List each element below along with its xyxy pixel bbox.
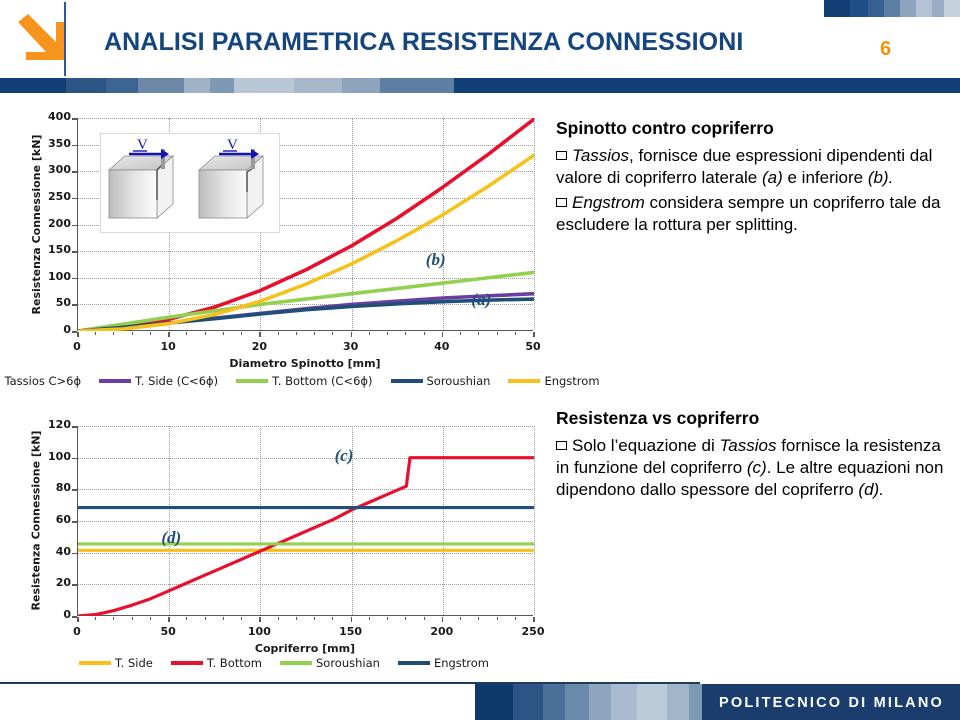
checkbox-bullet-icon <box>556 151 567 160</box>
series-annotation-b: (b) <box>426 250 446 270</box>
x-minor-tickmark <box>497 617 498 620</box>
legend-item[interactable]: Engstrom <box>508 374 599 388</box>
x-minor-tickmark <box>478 332 479 335</box>
y-tickmark <box>72 584 77 586</box>
y-tickmark <box>72 426 77 428</box>
x-minor-tickmark <box>533 617 534 620</box>
page-title: ANALISI PARAMETRICA RESISTENZA CONNESSIO… <box>104 28 794 57</box>
footer-swatch-cell <box>565 684 589 720</box>
x-minor-tickmark <box>278 332 279 335</box>
series-annotation-d: (d) <box>161 528 181 548</box>
footer-swatch-cell <box>637 684 667 720</box>
legend-label: Tassios C>6ϕ <box>4 374 81 388</box>
legend-label: Engstrom <box>434 656 489 670</box>
y-tickmark <box>72 489 77 491</box>
text-run: Tassios <box>719 436 776 455</box>
header-swatch-cell <box>884 0 900 17</box>
header-bar-cell <box>342 78 380 93</box>
legend-label: T. Side (C<6ϕ) <box>135 374 218 388</box>
text-heading: Spinotto contro copriferro <box>556 118 956 140</box>
footer-swatch-strip <box>475 684 735 720</box>
plot-area <box>77 426 533 616</box>
x-minor-tickmark <box>223 332 224 335</box>
text-block-spinotto: Spinotto contro copriferroTassios, forni… <box>556 118 956 239</box>
x-minor-tickmark <box>95 332 96 335</box>
brand-name: POLITECNICO DI MILANO <box>719 695 944 711</box>
checkbox-bullet-icon <box>556 198 567 207</box>
legend-color-swatch <box>236 379 268 383</box>
page-number: 6 <box>880 38 920 61</box>
text-heading: Resistenza vs copriferro <box>556 408 956 430</box>
y-tickmark <box>72 553 77 555</box>
dowel-diagram-svg: VV <box>101 134 281 234</box>
series-annotation-c: (c) <box>335 446 354 466</box>
chart1-plot-wrapper: 05010015020025030035040001020304050(b)(a… <box>6 108 562 400</box>
y-axis-title: Resistenza Connessione [kN] <box>30 426 43 616</box>
legend-item[interactable]: T. Side (C<6ϕ) <box>99 374 218 388</box>
header-swatch-cell <box>932 0 944 17</box>
x-tick-label: 50 <box>508 340 558 353</box>
x-minor-tickmark <box>150 617 151 620</box>
text-run: (a) <box>762 168 783 187</box>
text-run: (b). <box>868 168 894 187</box>
header-bar-cell <box>184 78 210 93</box>
legend-color-swatch <box>391 379 423 383</box>
text-paragraph: Solo l’equazione di Tassios fornisce la … <box>556 435 956 501</box>
x-minor-tickmark <box>278 617 279 620</box>
concrete-block: V <box>199 137 263 218</box>
header-swatch-cell <box>944 0 960 17</box>
chart-diametro-spinotto: 05010015020025030035040001020304050(b)(a… <box>6 108 562 400</box>
dowel-diagram-inset: VV <box>100 133 280 233</box>
x-minor-tickmark <box>296 332 297 335</box>
text-run: Tassios <box>572 146 629 165</box>
y-tickmark <box>72 171 77 173</box>
x-minor-tickmark <box>314 617 315 620</box>
legend-label: T. Side <box>115 656 153 670</box>
x-tick-label: 20 <box>234 340 284 353</box>
text-run: (d). <box>858 480 884 499</box>
legend-color-swatch <box>398 661 430 665</box>
x-minor-tickmark <box>205 617 206 620</box>
header-bar-cell <box>454 78 960 93</box>
legend-color-swatch <box>280 661 312 665</box>
header-accent-bar <box>0 78 960 93</box>
y-tickmark <box>72 278 77 280</box>
x-minor-tickmark <box>515 332 516 335</box>
x-minor-tickmark <box>186 617 187 620</box>
legend-color-swatch <box>99 379 131 383</box>
footer-swatch-cell <box>543 684 565 720</box>
gridline-vertical <box>534 118 535 330</box>
legend-item[interactable]: Tassios C>6ϕ <box>0 374 81 388</box>
footer-swatch-cell <box>475 684 513 720</box>
legend-item[interactable]: Engstrom <box>398 656 489 670</box>
x-minor-tickmark <box>77 332 78 335</box>
x-minor-tickmark <box>77 617 78 620</box>
x-minor-tickmark <box>168 617 169 620</box>
legend-item[interactable]: T. Side <box>79 656 153 670</box>
header-bar-cell <box>234 78 294 93</box>
header-bar-cell <box>294 78 342 93</box>
chart1-legend: Tassios C>6ϕT. Side (C<6ϕ)T. Bottom (C<6… <box>6 370 562 392</box>
legend-item[interactable]: Soroushian <box>391 374 491 388</box>
text-run: Engstrom <box>572 193 645 212</box>
x-minor-tickmark <box>442 332 443 335</box>
legend-item[interactable]: Soroushian <box>280 656 380 670</box>
x-minor-tickmark <box>460 617 461 620</box>
legend-label: Soroushian <box>427 374 491 388</box>
legend-color-swatch <box>508 379 540 383</box>
header-bar-cell <box>66 78 106 93</box>
header-swatch-cell <box>824 0 850 17</box>
arrow-down-right-icon <box>12 12 64 68</box>
series-annotation-a: (a) <box>471 290 491 310</box>
x-minor-tickmark <box>95 617 96 620</box>
x-tick-label: 0 <box>52 625 102 638</box>
x-minor-tickmark <box>387 332 388 335</box>
footer-swatch-cell <box>589 684 611 720</box>
header-bar-cell <box>0 78 66 93</box>
y-tickmark <box>72 251 77 253</box>
header-swatch-strip <box>824 0 960 17</box>
x-minor-tickmark <box>113 332 114 335</box>
x-axis-title: Diametro Spinotto [mm] <box>77 357 533 370</box>
x-minor-tickmark <box>497 332 498 335</box>
header-divider <box>64 2 66 76</box>
x-minor-tickmark <box>259 332 260 335</box>
text-run: (c) <box>747 458 767 477</box>
y-tickmark <box>72 304 77 306</box>
header-swatch-cell <box>900 0 916 17</box>
x-minor-tickmark <box>424 617 425 620</box>
x-tick-label: 0 <box>52 340 102 353</box>
text-paragraph: Engstrom considera sempre un copriferro … <box>556 192 956 236</box>
header-bar-cell <box>210 78 234 93</box>
x-minor-tickmark <box>351 617 352 620</box>
x-minor-tickmark <box>314 332 315 335</box>
x-tick-label: 30 <box>326 340 376 353</box>
legend-item[interactable]: T. Bottom (C<6ϕ) <box>236 374 372 388</box>
chart-copriferro: 020406080100120050100150200250(c)(d)Copr… <box>6 404 562 682</box>
x-minor-tickmark <box>405 617 406 620</box>
y-tickmark <box>72 198 77 200</box>
footer-swatch-cell <box>611 684 637 720</box>
y-tickmark <box>72 521 77 523</box>
legend-color-swatch <box>171 661 203 665</box>
x-minor-tickmark <box>405 332 406 335</box>
header-swatch-cell <box>916 0 932 17</box>
header-bar-cell <box>380 78 454 93</box>
x-tick-label: 50 <box>143 625 193 638</box>
chart2-plot-wrapper: 020406080100120050100150200250(c)(d)Copr… <box>6 404 562 682</box>
y-tickmark <box>72 145 77 147</box>
header-bar-cell <box>106 78 138 93</box>
x-minor-tickmark <box>369 617 370 620</box>
header-swatch-cell <box>868 0 884 17</box>
x-minor-tickmark <box>515 617 516 620</box>
header-bar-cell <box>138 78 184 93</box>
x-minor-tickmark <box>150 332 151 335</box>
x-minor-tickmark <box>241 332 242 335</box>
legend-label: Soroushian <box>316 656 380 670</box>
x-tick-label: 100 <box>234 625 284 638</box>
text-run: Solo l’equazione di <box>572 436 719 455</box>
text-paragraph: Tassios, fornisce due espressioni dipend… <box>556 145 956 189</box>
slide-footer: POLITECNICO DI MILANO <box>0 682 960 720</box>
y-axis-title: Resistenza Connessione [kN] <box>30 118 43 331</box>
series-layer <box>78 426 534 616</box>
x-tick-label: 10 <box>143 340 193 353</box>
x-minor-tickmark <box>369 332 370 335</box>
x-minor-tickmark <box>241 617 242 620</box>
y-tickmark <box>72 118 77 120</box>
series-line <box>78 458 534 616</box>
legend-color-swatch <box>79 661 111 665</box>
x-minor-tickmark <box>132 332 133 335</box>
legend-label: Engstrom <box>544 374 599 388</box>
x-tick-label: 150 <box>326 625 376 638</box>
header-swatch-cell <box>850 0 868 17</box>
y-tickmark <box>72 458 77 460</box>
slide-header: ANALISI PARAMETRICA RESISTENZA CONNESSIO… <box>0 0 960 96</box>
legend-label: T. Bottom (C<6ϕ) <box>272 374 372 388</box>
x-minor-tickmark <box>478 617 479 620</box>
x-minor-tickmark <box>332 332 333 335</box>
x-minor-tickmark <box>351 332 352 335</box>
x-minor-tickmark <box>113 617 114 620</box>
x-minor-tickmark <box>332 617 333 620</box>
chart2-legend: T. SideT. BottomSoroushianEngstrom <box>6 652 562 674</box>
x-tick-label: 40 <box>417 340 467 353</box>
x-minor-tickmark <box>223 617 224 620</box>
x-minor-tickmark <box>186 332 187 335</box>
x-minor-tickmark <box>296 617 297 620</box>
x-tick-label: 250 <box>508 625 558 638</box>
checkbox-bullet-icon <box>556 441 567 450</box>
x-minor-tickmark <box>460 332 461 335</box>
y-tickmark <box>72 225 77 227</box>
legend-label: T. Bottom <box>207 656 262 670</box>
gridline-vertical <box>534 426 535 615</box>
x-minor-tickmark <box>424 332 425 335</box>
footer-swatch-cell <box>667 684 689 720</box>
footer-brand-panel: POLITECNICO DI MILANO <box>702 684 960 720</box>
text-block-resistenza: Resistenza vs copriferroSolo l’equazione… <box>556 408 956 504</box>
x-minor-tickmark <box>442 617 443 620</box>
footer-swatch-cell <box>513 684 543 720</box>
x-minor-tickmark <box>259 617 260 620</box>
concrete-block: V <box>109 137 173 218</box>
x-minor-tickmark <box>205 332 206 335</box>
text-run: e inferiore <box>783 168 868 187</box>
x-minor-tickmark <box>132 617 133 620</box>
x-tick-label: 200 <box>417 625 467 638</box>
x-minor-tickmark <box>533 332 534 335</box>
x-minor-tickmark <box>168 332 169 335</box>
x-minor-tickmark <box>387 617 388 620</box>
legend-item[interactable]: T. Bottom <box>171 656 262 670</box>
